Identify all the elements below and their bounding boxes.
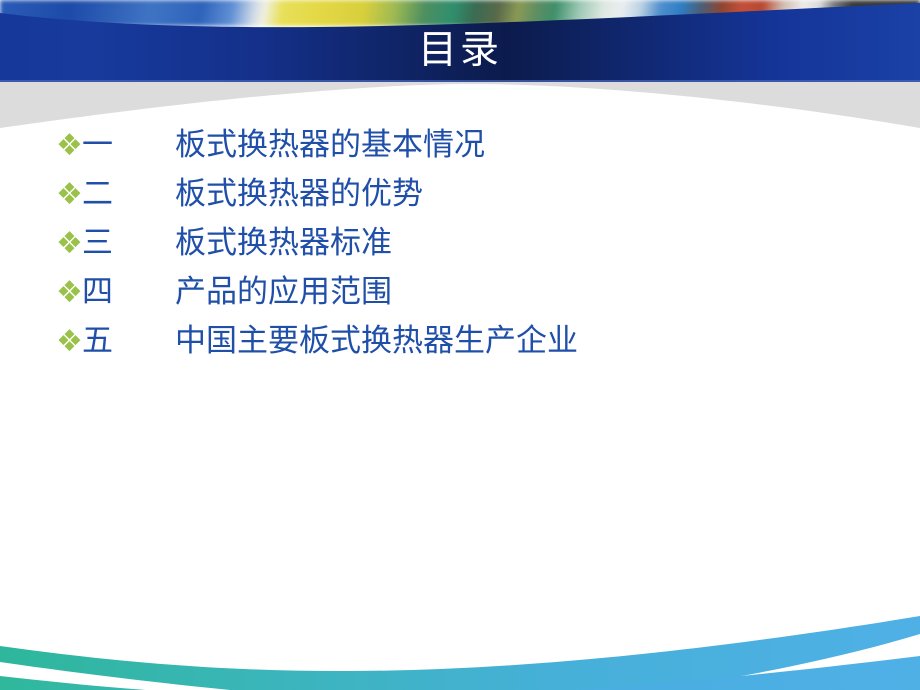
list-item[interactable]: ❖ 二 板式换热器的优势	[56, 177, 856, 226]
diamond-bullet-icon: ❖	[56, 276, 82, 310]
toc-item-number: 二	[82, 177, 113, 211]
diamond-bullet-icon: ❖	[56, 178, 82, 212]
bottom-wave-decoration	[0, 590, 920, 690]
gray-accent-band	[0, 82, 920, 128]
toc-item-number: 三	[82, 226, 113, 260]
toc-item-number: 四	[82, 275, 113, 309]
toc-item-number: 五	[82, 324, 113, 358]
diamond-bullet-icon: ❖	[56, 325, 82, 359]
diamond-bullet-icon: ❖	[56, 129, 82, 163]
diamond-bullet-icon: ❖	[56, 227, 82, 261]
gray-band-shape	[0, 82, 920, 128]
toc-item-label: 板式换热器的优势	[175, 177, 423, 211]
list-item[interactable]: ❖ 五 中国主要板式换热器生产企业	[56, 324, 856, 373]
toc-item-label: 产品的应用范围	[175, 275, 392, 309]
toc-item-label: 板式换热器的基本情况	[175, 128, 485, 162]
list-item[interactable]: ❖ 四 产品的应用范围	[56, 275, 856, 324]
bottom-wave-shapes	[0, 590, 920, 690]
page-title: 目录	[0, 27, 920, 75]
toc-item-label: 板式换热器标准	[175, 226, 392, 260]
toc-item-number: 一	[82, 128, 113, 162]
list-item[interactable]: ❖ 三 板式换热器标准	[56, 226, 856, 275]
list-item[interactable]: ❖ 一 板式换热器的基本情况	[56, 128, 856, 177]
toc-list: ❖ 一 板式换热器的基本情况 ❖ 二 板式换热器的优势 ❖ 三 板式换热器标准 …	[56, 128, 856, 373]
slide-canvas: 目录 ❖ 一 板式换热器的基本情况 ❖ 二 板式换热器的优势 ❖ 三 板式换热器…	[0, 0, 920, 690]
toc-item-label: 中国主要板式换热器生产企业	[175, 324, 578, 358]
